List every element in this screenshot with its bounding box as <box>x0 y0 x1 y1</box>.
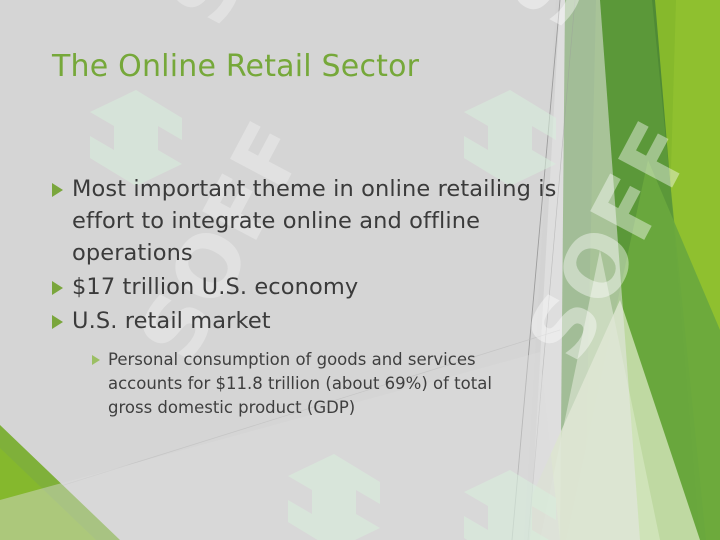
triangle-right-icon <box>52 315 63 329</box>
slide-body-list: Most important theme in online retailing… <box>52 174 572 420</box>
bullet-text: U.S. retail market <box>72 306 271 338</box>
bullet-text: Most important theme in online retailing… <box>72 174 572 270</box>
sub-bullet-item: Personal consumption of goods and servic… <box>92 348 572 420</box>
slide-title: The Online Retail Sector <box>52 50 572 85</box>
slide-canvas: SOFF SOFF SOFF SOFF The Online Retail Se… <box>0 0 720 540</box>
slide-content: The Online Retail Sector Most important … <box>0 0 720 540</box>
bullet-item: U.S. retail market <box>52 306 572 338</box>
sub-bullet-text: Personal consumption of goods and servic… <box>108 348 538 420</box>
bullet-item: Most important theme in online retailing… <box>52 174 572 270</box>
sub-bullet-list: Personal consumption of goods and servic… <box>92 348 572 420</box>
triangle-right-icon <box>52 281 63 295</box>
bullet-item: $17 trillion U.S. economy <box>52 272 572 304</box>
triangle-right-small-icon <box>92 355 100 365</box>
triangle-right-icon <box>52 183 63 197</box>
bullet-text: $17 trillion U.S. economy <box>72 272 358 304</box>
